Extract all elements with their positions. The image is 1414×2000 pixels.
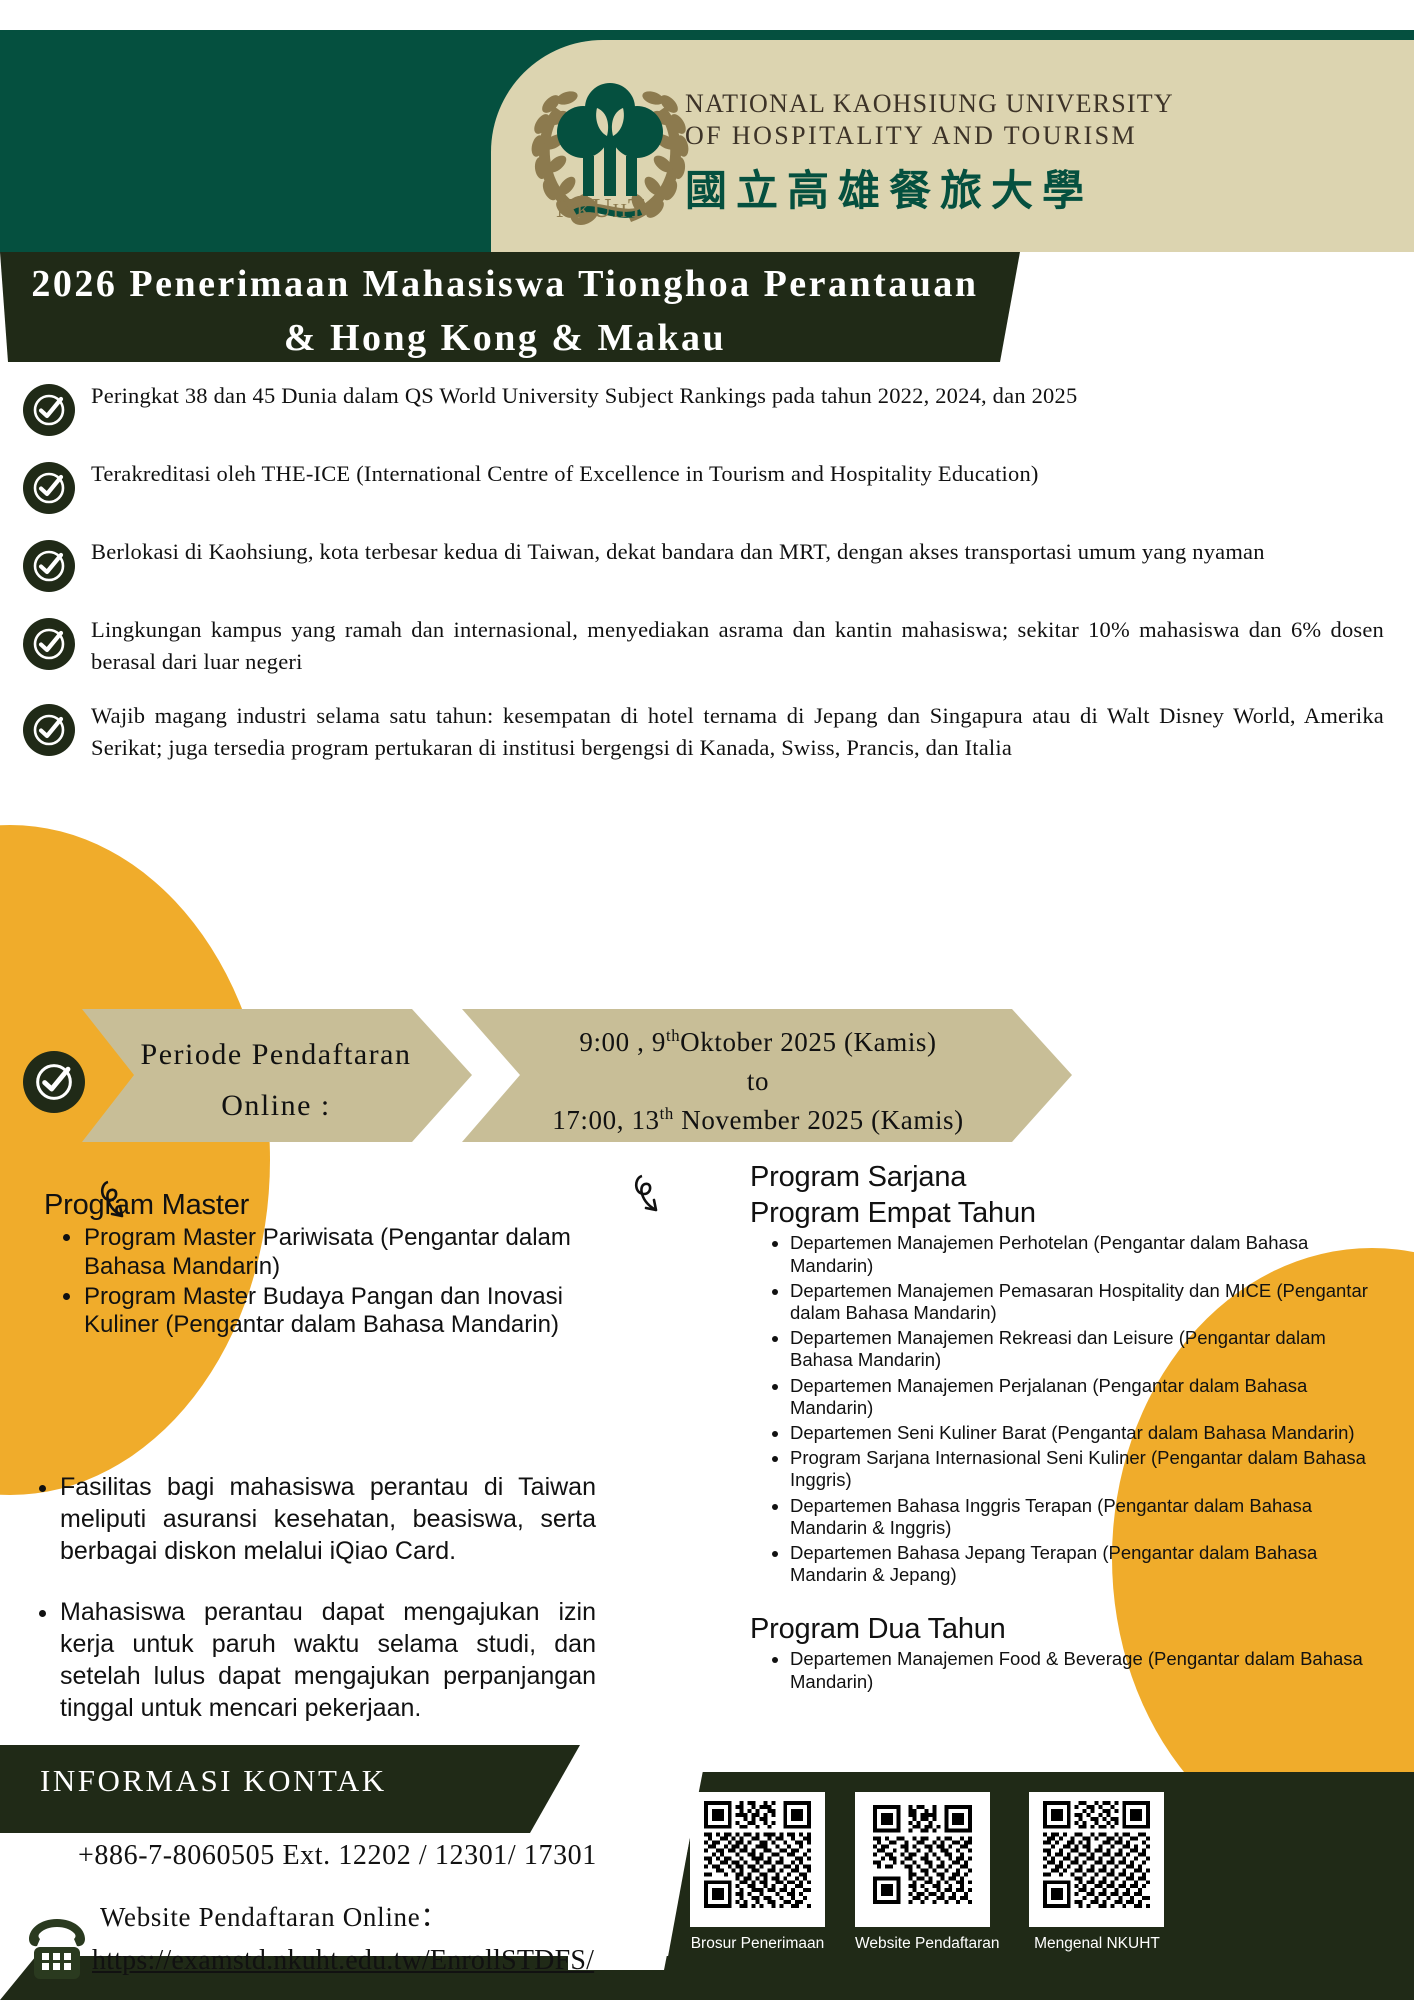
check-circle-icon: [23, 704, 75, 756]
period-end-rest: November 2025 (Kamis): [681, 1105, 964, 1135]
nkuht-wordmark-k: K: [577, 200, 592, 222]
list-item: Program Master Pariwisata (Pengantar dal…: [84, 1224, 584, 1281]
qr-code-registration-website-icon[interactable]: [855, 1792, 990, 1927]
contact-website-url[interactable]: https://examstd.nkuht.edu.tw/EnrollSTDFS…: [92, 1945, 594, 1977]
list-item: Departemen Manajemen Rekreasi dan Leisur…: [790, 1327, 1390, 1371]
period-start-sep: ,: [637, 1027, 644, 1057]
nkuht-wordmark: NKUHT: [556, 193, 645, 224]
period-end-time: 17:00,: [552, 1105, 624, 1135]
curly-arrow-to-master-icon: [98, 1178, 146, 1235]
period-end: 17:00, 13th November 2025 (Kamis): [478, 1101, 1038, 1140]
list-item: Departemen Manajemen Perjalanan (Pengant…: [790, 1375, 1390, 1419]
check-circle-icon: [23, 1051, 85, 1113]
undergraduate-program-section: Program Sarjana Program Empat Tahun Depa…: [750, 1160, 1390, 1696]
decorative-blob-left: [0, 825, 270, 1495]
highlight-text: Lingkungan kampus yang ramah dan interna…: [91, 614, 1384, 678]
period-label: Periode Pendaftaran Online :: [100, 1029, 452, 1131]
check-circle-icon: [23, 618, 75, 670]
list-item: Departemen Manajemen Pemasaran Hospitali…: [790, 1280, 1390, 1324]
list-item: Mahasiswa perantau dapat mengajukan izin…: [60, 1597, 596, 1724]
highlight-text: Wajib magang industri selama satu tahun:…: [91, 700, 1384, 764]
list-item: Berlokasi di Kaohsiung, kota terbesar ke…: [0, 536, 1414, 592]
period-label-line1: Periode Pendaftaran: [100, 1029, 452, 1080]
period-start: 9:00 , 9thOktober 2025 (Kamis): [478, 1023, 1038, 1062]
qr-code-item[interactable]: Brosur Penerimaan: [690, 1792, 825, 1953]
period-end-sup: th: [660, 1104, 674, 1123]
qr-code-caption: Mengenal NKUHT: [1029, 1935, 1164, 1953]
four-year-heading: Program Empat Tahun: [750, 1196, 1390, 1230]
university-name-cn: 國立高雄餐旅大學: [685, 157, 1174, 218]
two-year-list: Departemen Manajemen Food & Beverage (Pe…: [772, 1648, 1390, 1692]
curly-arrow-to-sarjana-icon: [632, 1172, 680, 1229]
nkuht-wordmark-t: T: [628, 193, 646, 223]
undergraduate-heading: Program Sarjana: [750, 1160, 1390, 1194]
period-value: 9:00 , 9thOktober 2025 (Kamis) to 17:00,…: [478, 1023, 1038, 1140]
nkuht-wordmark-h: H: [612, 200, 627, 222]
page-title: 2026 Penerimaan Mahasiswa Tionghoa Peran…: [0, 258, 1010, 366]
contact-banner-title: INFORMASI KONTAK: [40, 1763, 387, 1799]
list-item: Departemen Seni Kuliner Barat (Pengantar…: [790, 1422, 1390, 1444]
qr-code-item[interactable]: Mengenal NKUHT: [1029, 1792, 1164, 1953]
highlight-text: Peringkat 38 dan 45 Dunia dalam QS World…: [91, 380, 1384, 412]
list-item: Program Sarjana Internasional Seni Kulin…: [790, 1447, 1390, 1491]
period-to: to: [478, 1062, 1038, 1101]
period-end-day: 13: [631, 1105, 659, 1135]
qr-code-about-nkuht-icon[interactable]: [1029, 1792, 1164, 1927]
contact-phone: +886-7-8060505 Ext. 12202 / 12301/ 17301: [78, 1840, 597, 1872]
highlight-text: Terakreditasi oleh THE-ICE (Internationa…: [91, 458, 1384, 490]
check-circle-icon: [23, 462, 75, 514]
four-year-list: Departemen Manajemen Perhotelan (Pengant…: [772, 1232, 1390, 1586]
list-item: Fasilitas bagi mahasiswa perantau di Tai…: [60, 1472, 596, 1567]
list-item: Program Master Budaya Pangan dan Inovasi…: [84, 1283, 584, 1340]
university-name-en-line2: OF HOSPITALITY AND TOURISM: [685, 120, 1174, 152]
university-name-en-line1: NATIONAL KAOHSIUNG UNIVERSITY: [685, 88, 1174, 120]
qr-code-caption: Brosur Penerimaan: [690, 1935, 825, 1953]
list-item: Wajib magang industri selama satu tahun:…: [0, 700, 1414, 764]
qr-code-item[interactable]: Website Pendaftaran: [855, 1792, 999, 1953]
benefits-list: Fasilitas bagi mahasiswa perantau di Tai…: [26, 1472, 596, 1754]
qr-code-row: Brosur Penerimaan: [690, 1792, 1390, 1953]
period-start-day: 9: [652, 1027, 666, 1057]
list-item: Departemen Manajemen Perhotelan (Pengant…: [790, 1232, 1390, 1276]
list-item: Lingkungan kampus yang ramah dan interna…: [0, 614, 1414, 678]
highlights-list: Peringkat 38 dan 45 Dunia dalam QS World…: [0, 380, 1414, 786]
university-name-block: NATIONAL KAOHSIUNG UNIVERSITY OF HOSPITA…: [685, 88, 1174, 218]
period-start-sup: th: [666, 1026, 680, 1045]
page-title-line1: 2026 Penerimaan Mahasiswa Tionghoa Peran…: [31, 263, 978, 305]
list-item: Peringkat 38 dan 45 Dunia dalam QS World…: [0, 380, 1414, 436]
highlight-text: Berlokasi di Kaohsiung, kota terbesar ke…: [91, 536, 1384, 568]
registration-period-banner: Periode Pendaftaran Online : 9:00 , 9thO…: [0, 1015, 1414, 1145]
telephone-icon: [26, 1915, 88, 1988]
two-year-heading: Program Dua Tahun: [750, 1612, 1390, 1646]
check-circle-icon: [23, 540, 75, 592]
period-start-time: 9:00: [579, 1027, 629, 1057]
period-label-line2: Online :: [100, 1080, 452, 1131]
list-item: Terakreditasi oleh THE-ICE (Internationa…: [0, 458, 1414, 514]
qr-code-caption: Website Pendaftaran: [855, 1935, 999, 1953]
list-item: Departemen Bahasa Inggris Terapan (Penga…: [790, 1495, 1390, 1539]
nkuht-wordmark-n: N: [556, 193, 577, 223]
list-item: Departemen Manajemen Food & Beverage (Pe…: [790, 1648, 1390, 1692]
qr-code-brochure-icon[interactable]: [690, 1792, 825, 1927]
period-start-rest: Oktober 2025 (Kamis): [680, 1027, 936, 1057]
check-circle-icon: [23, 384, 75, 436]
list-item: Departemen Bahasa Jepang Terapan (Pengan…: [790, 1542, 1390, 1586]
page-title-line2: & Hong Kong & Makau: [0, 312, 1010, 366]
contact-website-label: Website Pendaftaran Online：: [100, 1895, 448, 1934]
master-program-list: Program Master Pariwisata (Pengantar dal…: [66, 1224, 584, 1339]
nkuht-wordmark-u: U: [592, 193, 613, 223]
